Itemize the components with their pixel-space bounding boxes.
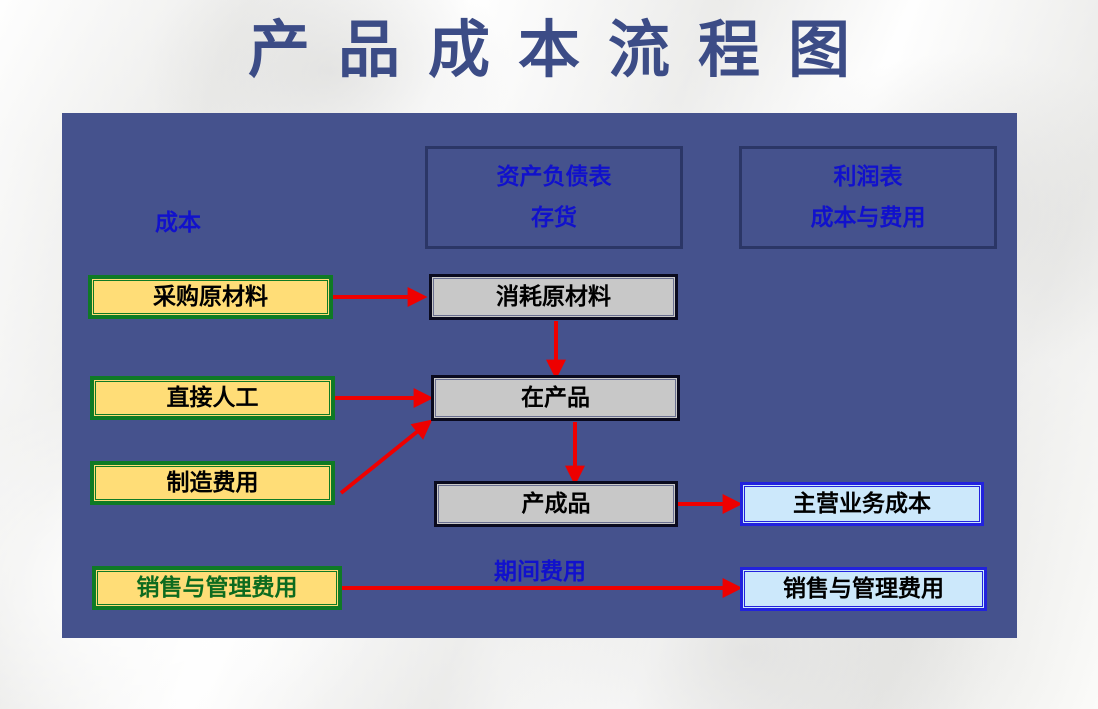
box-purchase-raw-material[interactable]: 采购原材料 xyxy=(88,275,333,319)
header-box-balance-sheet: 资产负债表 存货 xyxy=(425,146,683,249)
header-balance-sheet-line1: 资产负债表 xyxy=(497,166,612,189)
box-selling-admin-expense-cost-label: 销售与管理费用 xyxy=(137,577,298,600)
header-box-income-statement: 利润表 成本与费用 xyxy=(739,146,997,249)
box-purchase-raw-material-label: 采购原材料 xyxy=(153,286,268,309)
box-manufacturing-overhead-label: 制造费用 xyxy=(167,472,259,495)
label-period-expense: 期间费用 xyxy=(494,561,586,584)
box-finished-goods-label: 产成品 xyxy=(522,493,591,516)
box-selling-admin-expense-income[interactable]: 销售与管理费用 xyxy=(740,567,987,611)
box-main-business-cost[interactable]: 主营业务成本 xyxy=(740,482,984,526)
box-work-in-process-label: 在产品 xyxy=(521,387,590,410)
box-main-business-cost-label: 主营业务成本 xyxy=(793,493,931,516)
header-income-statement-line1: 利润表 xyxy=(834,166,903,189)
box-manufacturing-overhead[interactable]: 制造费用 xyxy=(90,461,335,505)
box-consumed-raw-material[interactable]: 消耗原材料 xyxy=(429,274,678,320)
box-direct-labor-label: 直接人工 xyxy=(167,387,259,410)
header-income-statement-line2: 成本与费用 xyxy=(811,207,926,230)
header-balance-sheet-line2: 存货 xyxy=(531,207,577,230)
slide-page: 产品成本流程图 资产负债表 存货 利润表 成本与费用 成本 期间费用 xyxy=(0,0,1098,709)
box-consumed-raw-material-label: 消耗原材料 xyxy=(496,286,611,309)
page-title: 产品成本流程图 xyxy=(0,4,1098,96)
box-selling-admin-expense-income-label: 销售与管理费用 xyxy=(783,578,944,601)
label-cost: 成本 xyxy=(155,212,201,235)
box-work-in-process[interactable]: 在产品 xyxy=(431,375,680,421)
box-finished-goods[interactable]: 产成品 xyxy=(434,481,678,527)
box-direct-labor[interactable]: 直接人工 xyxy=(90,376,335,420)
box-selling-admin-expense-cost[interactable]: 销售与管理费用 xyxy=(92,566,342,610)
